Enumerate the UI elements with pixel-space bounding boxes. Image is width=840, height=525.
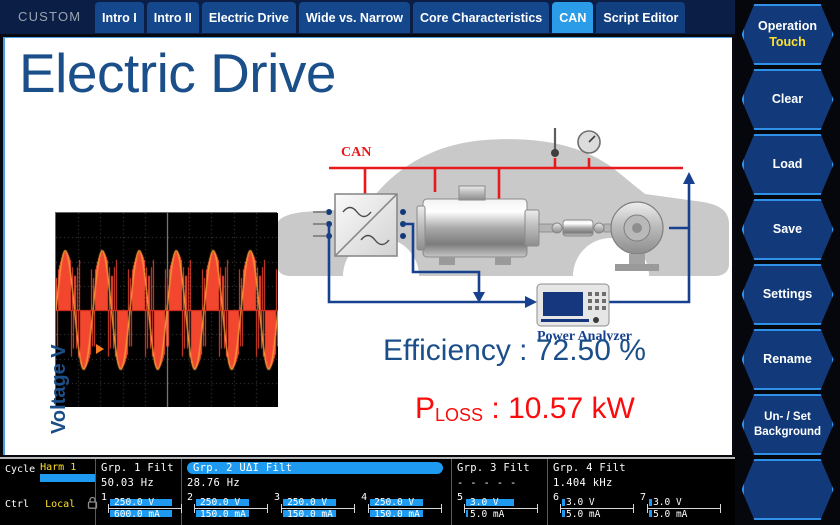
group-frequency: 28.76 Hz (187, 477, 447, 489)
scope-application-window: CUSTOM Intro IIntro IIElectric DriveWide… (0, 0, 840, 525)
efficiency-value: 72.50 % (536, 334, 646, 367)
channel-voltage: 250.0 V (200, 498, 240, 507)
measurement-group[interactable]: Grp. 2 UΔI Filt28.76 Hz2250.0 V150.0 mA3… (182, 459, 452, 525)
measurement-group-list: Grp. 1 Filt50.03 Hz1250.0 V600.0 mAGrp. … (96, 459, 732, 525)
channel-current: 5.0 mA (566, 510, 600, 519)
channel-number: 1 (101, 492, 107, 503)
channel-current: 150.0 mA (200, 510, 246, 519)
channel-4[interactable]: 4250.0 V150.0 mA (361, 492, 442, 503)
efficiency-label: Efficiency : (383, 334, 536, 367)
vfd-waveform-canvas (56, 213, 278, 407)
measurement-group[interactable]: Grp. 4 Filt1.404 kHz63.0 V5.0 mA73.0 V5.… (548, 459, 732, 525)
group-header: Grp. 1 Filt (101, 462, 177, 474)
tab-list: Intro IIntro IIElectric DriveWide vs. Na… (95, 0, 688, 33)
slide-content-area: Electric Drive (3, 37, 732, 455)
channel-1[interactable]: 1250.0 V600.0 mA (101, 492, 182, 503)
custom-label: CUSTOM (0, 0, 95, 24)
scope-y-axis-label: Voltage V (48, 344, 71, 434)
softkey-sublabel: Touch (769, 35, 806, 51)
channel-6[interactable]: 63.0 V5.0 mA (553, 492, 634, 503)
efficiency-readout: Efficiency : 72.50 % (383, 334, 646, 368)
temperature-sensor-icon (551, 128, 559, 157)
tab-can[interactable]: CAN (552, 2, 593, 33)
ploss-subscript: LOSS (435, 405, 483, 425)
group-header: Grp. 2 UΔI Filt (187, 462, 443, 474)
channel-7[interactable]: 73.0 V5.0 mA (640, 492, 721, 503)
channel-current: 5.0 mA (470, 510, 504, 519)
channel-current: 600.0 mA (114, 510, 160, 519)
group-frequency: - - - - - (457, 477, 543, 489)
channel-number: 5 (457, 492, 463, 503)
softkey-label: Save (773, 222, 802, 238)
electric-drive-diagram: CAN (273, 106, 732, 346)
tab-script-editor[interactable]: Script Editor (596, 2, 685, 33)
cycle-label: Cycle (5, 462, 35, 475)
softkey-label: Operation (758, 19, 817, 35)
softkey-operation[interactable]: OperationTouch (742, 4, 834, 65)
channel-current: 150.0 mA (374, 510, 420, 519)
channel-voltage: 250.0 V (114, 498, 154, 507)
channel-3[interactable]: 3250.0 V150.0 mA (274, 492, 355, 503)
tab-intro-i[interactable]: Intro I (95, 2, 144, 33)
channel-number: 2 (187, 492, 193, 503)
ploss-value: 10.57 kW (508, 392, 635, 425)
page-title: Electric Drive (19, 46, 336, 101)
group-frequency: 50.03 Hz (101, 477, 177, 489)
cycle-value[interactable]: Harm 1 (40, 462, 95, 473)
cycle-control-group: Cycle Harm 1 Ctrl Local (0, 459, 96, 525)
ploss-symbol: P (415, 392, 435, 425)
tab-core-characteristics[interactable]: Core Characteristics (413, 2, 549, 33)
softkey-label: Clear (772, 92, 803, 108)
channel-5[interactable]: 53.0 V5.0 mA (457, 492, 538, 503)
can-label: CAN (341, 145, 371, 160)
softkey-load[interactable]: Load (742, 134, 834, 195)
ploss-separator: : (483, 392, 508, 425)
gauge-icon (578, 131, 600, 153)
status-bar: Cycle Harm 1 Ctrl Local Grp. 1 Filt50.03… (0, 457, 735, 525)
softkey-label: Settings (763, 287, 812, 303)
tab-intro-ii[interactable]: Intro II (147, 2, 199, 33)
softkey-settings[interactable]: Settings (742, 264, 834, 325)
channel-voltage: 3.0 V (653, 498, 682, 507)
soft-key-sidebar: OperationTouchClearLoadSaveSettingsRenam… (735, 0, 840, 525)
softkey-empty-7[interactable] (742, 459, 834, 520)
softkey-label: Rename (763, 352, 812, 368)
softkey-un-set-background[interactable]: Un- / Set Background (742, 394, 834, 455)
group-header: Grp. 3 Filt (457, 462, 543, 474)
diagram-svg: CAN (273, 106, 732, 341)
measurement-group[interactable]: Grp. 1 Filt50.03 Hz1250.0 V600.0 mA (96, 459, 182, 525)
channel-2[interactable]: 2250.0 V150.0 mA (187, 492, 268, 503)
trigger-level-marker (96, 344, 104, 354)
cycle-bar (40, 474, 95, 482)
scope-plot-area (55, 212, 277, 406)
tab-bar: CUSTOM Intro IIntro IIElectric DriveWide… (0, 0, 735, 34)
channel-voltage: 3.0 V (470, 498, 499, 507)
softkey-label: Un- / Set Background (744, 410, 832, 439)
softkey-clear[interactable]: Clear (742, 69, 834, 130)
power-analyzer-device (537, 284, 609, 326)
softkey-save[interactable]: Save (742, 199, 834, 260)
softkey-rename[interactable]: Rename (742, 329, 834, 390)
channel-current: 5.0 mA (653, 510, 687, 519)
measurement-group[interactable]: Grp. 3 Filt- - - - -53.0 V5.0 mA (452, 459, 548, 525)
channel-number: 4 (361, 492, 367, 503)
ctrl-value[interactable]: Local (45, 499, 75, 510)
group-header: Grp. 4 Filt (553, 462, 728, 474)
channel-current: 150.0 mA (287, 510, 333, 519)
channel-number: 7 (640, 492, 646, 503)
tab-electric-drive[interactable]: Electric Drive (202, 2, 296, 33)
channel-voltage: 250.0 V (287, 498, 327, 507)
channel-voltage: 3.0 V (566, 498, 595, 507)
group-frequency: 1.404 kHz (553, 477, 728, 489)
channel-voltage: 250.0 V (374, 498, 414, 507)
channel-number: 3 (274, 492, 280, 503)
tab-wide-vs-narrow[interactable]: Wide vs. Narrow (299, 2, 410, 33)
softkey-label: Load (773, 157, 803, 173)
ctrl-label: Ctrl (5, 499, 29, 510)
power-loss-readout: PLOSS : 10.57 kW (415, 392, 635, 426)
waveform-scope: Voltage V VFD Output (55, 212, 277, 406)
channel-number: 6 (553, 492, 559, 503)
